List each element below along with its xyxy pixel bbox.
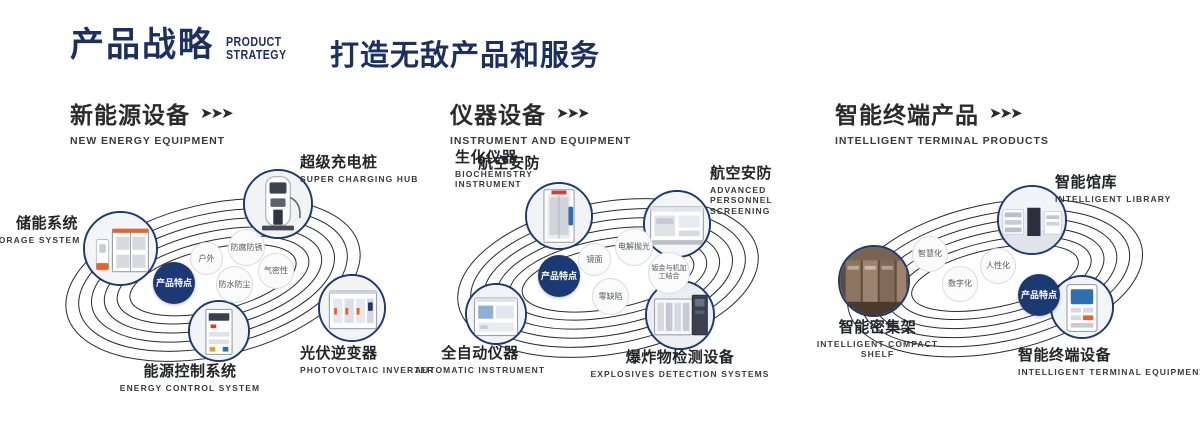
control-cabinet-photo xyxy=(190,302,248,360)
security-gate-photo xyxy=(527,184,591,248)
node-photovoltaic-inverter[interactable] xyxy=(318,274,386,342)
feature-label: 防腐防锈 xyxy=(231,243,263,252)
node-energy-storage-system[interactable] xyxy=(83,211,158,286)
caption-cn: 能源控制系统 xyxy=(80,364,300,381)
node-intelligent-terminal-equipment[interactable] xyxy=(1050,275,1114,339)
kiosk-terminal-photo xyxy=(1052,277,1112,337)
feature-bubble-mirror: 镜面 xyxy=(578,243,611,276)
feature-bubble-outdoor: 户外 xyxy=(190,242,223,275)
feature-core-label: 产品特点 xyxy=(541,271,577,281)
caption-en: ENERGY CONTROL SYSTEM xyxy=(80,383,300,394)
section-title-cn: 智能终端产品 ➤➤➤ xyxy=(835,96,1049,130)
section-label: 仪器设备 xyxy=(450,96,546,130)
section-label: 新能源设备 xyxy=(70,96,190,130)
caption-explosives-detection-systems: 爆炸物检测设备 EXPLOSIVES DETECTION SYSTEMS xyxy=(580,350,780,379)
chevron-right-icon: ➤➤➤ xyxy=(200,104,232,122)
caption-en: AUTOMATIC INSTRUMENT xyxy=(380,365,580,376)
feature-label: 气密性 xyxy=(264,266,288,275)
battery-cabinet-photo xyxy=(85,213,156,284)
feature-bubble-airtight: 气密性 xyxy=(258,253,294,289)
page-subtitle: 打造无敌产品和服务 xyxy=(330,32,600,74)
feature-label: 智慧化 xyxy=(918,249,942,258)
compact-shelf-photo xyxy=(840,247,908,315)
caption-cn: 爆炸物检测设备 xyxy=(580,350,780,367)
caption-en: EXPLOSIVES DETECTION SYSTEMS xyxy=(580,369,780,380)
section-title-new-energy: 新能源设备 ➤➤➤ NEW ENERGY EQUIPMENT xyxy=(70,96,232,147)
feature-bubble-sheetmetal-machining: 钣金与机加工结合 xyxy=(648,252,690,294)
caption-biochemistry-instrument: 生化仪器 BIOCHEMISTRY INSTRUMENT xyxy=(455,150,605,190)
section-title-en: INSTRUMENT AND EQUIPMENT xyxy=(450,135,631,147)
page-title: 产品战略 PRODUCT STRATEGY xyxy=(70,28,300,62)
caption-en: ENERGY STORAGE SYSTEM xyxy=(0,235,78,246)
node-advanced-personnel-screening[interactable] xyxy=(643,190,711,258)
node-energy-control-system[interactable] xyxy=(188,300,250,362)
node-biochemistry-instrument[interactable] xyxy=(525,182,593,250)
chevron-right-icon: ➤➤➤ xyxy=(989,104,1021,122)
feature-label: 数字化 xyxy=(948,279,972,288)
feature-core-bubble: 产品特点 xyxy=(1018,274,1060,316)
caption-energy-control-system: 能源控制系统 ENERGY CONTROL SYSTEM xyxy=(80,364,300,393)
page-title-en-line2: STRATEGY xyxy=(226,48,287,61)
pv-inverter-photo xyxy=(320,276,384,340)
caption-energy-storage-system: 储能系统 ENERGY STORAGE SYSTEM xyxy=(0,216,78,245)
caption-cn: 智能终端设备 xyxy=(1018,348,1200,365)
caption-cn: 智能馆库 xyxy=(1055,175,1200,192)
page-title-en: PRODUCT STRATEGY xyxy=(226,35,287,61)
caption-en: INTELLIGENT COMPACT SHELF xyxy=(810,339,945,360)
caption-cn: 储能系统 xyxy=(0,216,78,233)
section-title-instrument: 仪器设备 ➤➤➤ INSTRUMENT AND EQUIPMENT xyxy=(450,96,631,147)
caption-cn: 生化仪器 xyxy=(455,150,605,167)
automatic-instrument-photo xyxy=(467,285,525,343)
section-title-intelligent-terminal: 智能终端产品 ➤➤➤ INTELLIGENT TERMINAL PRODUCTS xyxy=(835,96,1049,147)
caption-automatic-instrument: 全自动仪器 AUTOMATIC INSTRUMENT xyxy=(380,346,580,375)
feature-bubble-humanized: 人性化 xyxy=(980,248,1016,284)
section-title-cn: 新能源设备 ➤➤➤ xyxy=(70,96,232,130)
feature-core-label: 产品特点 xyxy=(156,278,192,288)
page-title-cn: 产品战略 xyxy=(70,28,214,62)
feature-label: 防水防尘 xyxy=(219,280,251,289)
caption-cn: 全自动仪器 xyxy=(380,346,580,363)
feature-core-bubble: 产品特点 xyxy=(538,255,580,297)
product-strategy-infographic: 产品战略 PRODUCT STRATEGY 打造无敌产品和服务 新能源设备 ➤➤… xyxy=(0,0,1200,422)
caption-cn: 智能密集架 xyxy=(810,320,945,337)
explosives-detector-photo xyxy=(647,282,713,348)
cluster-instrument: 航空安防 生化仪器 BIOCHEMISTRY INSTRUMENT xyxy=(400,150,800,422)
feature-bubble-waterproof: 防水防尘 xyxy=(216,266,253,303)
feature-label: 户外 xyxy=(199,254,215,263)
diagram-stage: 储能系统 ENERGY STORAGE SYSTEM 超级充电桩 SUPER C… xyxy=(0,150,1200,422)
feature-label: 钣金与机加工结合 xyxy=(649,265,689,281)
feature-core-label: 产品特点 xyxy=(1021,290,1057,300)
feature-label: 镜面 xyxy=(587,255,603,264)
caption-en: INTELLIGENT TERMINAL EQUIPMENT xyxy=(1018,367,1200,378)
feature-bubble-digital: 数字化 xyxy=(942,266,978,302)
screening-machine-photo xyxy=(645,192,709,256)
node-automatic-instrument[interactable] xyxy=(465,283,527,345)
feature-label: 电解抛光 xyxy=(618,242,650,251)
feature-bubble-smart: 智慧化 xyxy=(912,236,948,272)
section-title-en: NEW ENERGY EQUIPMENT xyxy=(70,135,232,147)
section-label: 智能终端产品 xyxy=(835,96,979,130)
cluster-intelligent-terminal: 智能馆库 INTELLIGENT LIBRARY xyxy=(790,150,1200,422)
feature-label: 零缺陷 xyxy=(599,292,623,301)
caption-en: BIOCHEMISTRY INSTRUMENT xyxy=(455,169,550,190)
feature-bubble-electropolishing: 电解抛光 xyxy=(615,228,653,266)
caption-intelligent-terminal-equipment: 智能终端设备 INTELLIGENT TERMINAL EQUIPMENT xyxy=(1018,348,1200,377)
feature-bubble-zero-defect: 零缺陷 xyxy=(592,278,629,315)
section-title-en: INTELLIGENT TERMINAL PRODUCTS xyxy=(835,135,1049,147)
caption-intelligent-library: 智能馆库 INTELLIGENT LIBRARY xyxy=(1055,175,1200,204)
caption-en: INTELLIGENT LIBRARY xyxy=(1055,194,1200,205)
feature-label: 人性化 xyxy=(986,261,1010,270)
caption-intelligent-compact-shelf: 智能密集架 INTELLIGENT COMPACT SHELF xyxy=(810,320,945,360)
feature-bubble-anticorrosion: 防腐防锈 xyxy=(228,229,265,266)
node-intelligent-compact-shelf[interactable] xyxy=(838,245,910,317)
chevron-right-icon: ➤➤➤ xyxy=(556,104,588,122)
section-title-cn: 仪器设备 ➤➤➤ xyxy=(450,96,631,130)
feature-core-bubble: 产品特点 xyxy=(153,262,195,304)
cluster-new-energy: 储能系统 ENERGY STORAGE SYSTEM 超级充电桩 SUPER C… xyxy=(0,150,400,422)
